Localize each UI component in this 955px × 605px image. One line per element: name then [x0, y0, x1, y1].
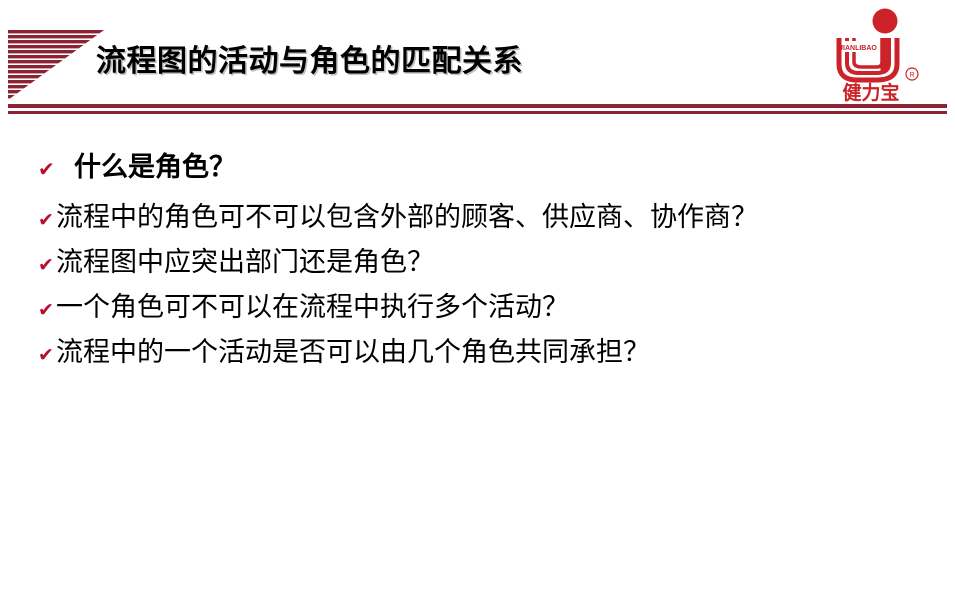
bullet-text: 流程图中应突出部门还是角色？ [56, 245, 434, 279]
header-rule-thin [8, 111, 947, 114]
slide-body: ✔ 什么是角色？ ✔ 流程中的角色可不可以包含外部的顾客、供应商、协作商？ ✔ … [0, 150, 955, 380]
page-title: 流程图的活动与角色的匹配关系 [96, 43, 523, 81]
bullet-text: 流程中的一个活动是否可以由几个角色共同承担？ [56, 335, 650, 369]
bullet-item: ✔ 流程中的一个活动是否可以由几个角色共同承担？ [0, 335, 955, 380]
bullet-item: ✔ 流程图中应突出部门还是角色？ [0, 245, 955, 290]
checkmark-icon: ✔ [38, 301, 56, 320]
presentation-slide: 流程图的活动与角色的匹配关系 JIANLIBAO R [0, 0, 955, 605]
bullet-text: 一个角色可不可以在流程中执行多个活动？ [56, 290, 569, 324]
bullet-item: ✔ 什么是角色？ [0, 150, 955, 200]
header-rule-thick [8, 104, 947, 108]
bullet-text: 什么是角色？ [74, 150, 236, 184]
checkmark-icon: ✔ [38, 159, 74, 179]
company-logo-jianlibao: JIANLIBAO R 健力宝 [825, 8, 933, 104]
checkmark-icon: ✔ [38, 211, 56, 230]
logo-latin-text: JIANLIBAO [839, 45, 877, 52]
bullet-item: ✔ 流程中的角色可不可以包含外部的顾客、供应商、协作商？ [0, 200, 955, 245]
bullet-text: 流程中的角色可不可以包含外部的顾客、供应商、协作商？ [56, 200, 758, 234]
striped-wedge-decoration [8, 30, 104, 100]
registered-mark: R [909, 72, 914, 79]
checkmark-icon: ✔ [38, 346, 56, 365]
logo-cjk-text: 健力宝 [842, 81, 899, 104]
bullet-item: ✔ 一个角色可不可以在流程中执行多个活动？ [0, 290, 955, 335]
checkmark-icon: ✔ [38, 256, 56, 275]
slide-header: 流程图的活动与角色的匹配关系 JIANLIBAO R [0, 0, 955, 118]
